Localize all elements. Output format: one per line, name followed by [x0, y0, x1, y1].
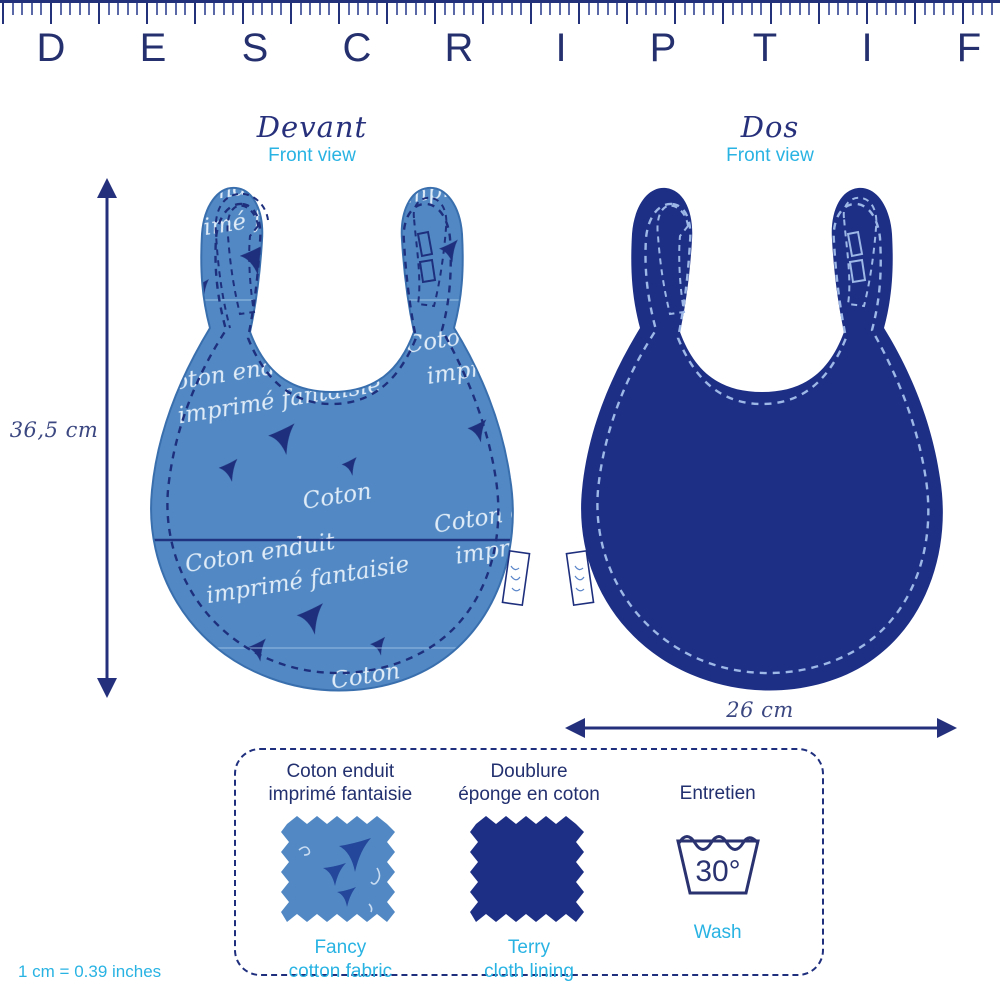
- ruler-tick: [828, 3, 830, 15]
- legend-fr-line2: imprimé fantaisie: [269, 783, 413, 806]
- unit-conversion-note: 1 cm = 0.39 inches: [18, 962, 161, 982]
- legend-item-terry-lining-title: Doublure éponge en coton: [458, 760, 600, 806]
- ruler-tick: [40, 3, 42, 15]
- ruler-tick: [981, 3, 983, 15]
- ruler-tick: [453, 3, 455, 15]
- ruler-tick: [712, 3, 714, 15]
- ruler-tick: [69, 3, 71, 15]
- title-letter-8: I: [816, 26, 918, 71]
- ruler-tick: [876, 3, 878, 15]
- legend-item-fancy-cotton: Coton enduit imprimé fantaisie Fancy cot…: [246, 756, 435, 970]
- ruler-tick: [808, 3, 810, 15]
- ruler-tick: [21, 3, 23, 15]
- ruler-tick: [146, 3, 148, 24]
- legend-fr-line2: éponge en coton: [458, 783, 600, 806]
- ruler-tick: [530, 3, 532, 24]
- title-letter-9: F: [918, 26, 1000, 71]
- ruler-tick: [338, 3, 340, 24]
- ruler-tick: [664, 3, 666, 15]
- fabric-swatch-icon: [281, 812, 399, 930]
- ruler-tick: [674, 3, 676, 24]
- title-letter-1: E: [102, 26, 204, 71]
- ruler-tick: [549, 3, 551, 15]
- ruler-tick: [60, 3, 62, 15]
- ruler-tick: [424, 3, 426, 15]
- ruler-tick: [741, 3, 743, 15]
- ruler-tick: [588, 3, 590, 15]
- ruler-tick: [444, 3, 446, 15]
- legend-item-fancy-cotton-sub: Fancy cotton fabric: [289, 936, 393, 982]
- bib-back-illustration: [548, 178, 978, 703]
- ruler-tick: [780, 3, 782, 15]
- title-letter-2: S: [204, 26, 306, 71]
- ruler-tick: [367, 3, 369, 15]
- ruler-tick: [722, 3, 724, 24]
- fabric-swatch-icon: [470, 812, 588, 930]
- ruler-baseline: [0, 0, 1000, 3]
- legend-item-terry-lining-sub: Terry cloth lining: [484, 936, 574, 982]
- legend-en-line2: cotton fabric: [289, 960, 393, 983]
- ruler-tick: [290, 3, 292, 24]
- arrowhead-right-icon: [937, 718, 957, 738]
- ruler-tick: [482, 3, 484, 24]
- ruler-tick: [223, 3, 225, 15]
- ruler-tick: [703, 3, 705, 15]
- ruler-tick: [175, 3, 177, 15]
- ruler-tick: [252, 3, 254, 15]
- legend-en-line1: Fancy: [289, 936, 393, 959]
- ruler-tick: [213, 3, 215, 15]
- ruler-tick: [271, 3, 273, 15]
- ruler-tick: [79, 3, 81, 15]
- wash-temperature-text: 30°: [695, 855, 740, 888]
- view-caption-front-en: Front view: [182, 142, 442, 171]
- title-letter-4: R: [408, 26, 510, 71]
- ruler-tick: [789, 3, 791, 15]
- ruler-tick: [328, 3, 330, 15]
- title-letter-3: C: [306, 26, 408, 71]
- ruler-tick: [396, 3, 398, 15]
- ruler-tick: [108, 3, 110, 15]
- ruler-tick: [156, 3, 158, 15]
- ruler-tick: [837, 3, 839, 15]
- ruler-tick: [98, 3, 100, 24]
- view-caption-back-fr: Dos: [640, 112, 900, 142]
- page-title: DESCRIPTIF: [0, 26, 1000, 71]
- bib-back-body: [581, 188, 943, 691]
- view-caption-back: Dos Front view: [640, 112, 900, 171]
- ruler-tick: [895, 3, 897, 15]
- arrowhead-left-icon: [565, 718, 585, 738]
- legend-fr-line1: Doublure: [458, 760, 600, 783]
- ruler-tick: [492, 3, 494, 15]
- ruler-tick: [242, 3, 244, 24]
- ruler-tick: [415, 3, 417, 15]
- view-caption-front-fr: Devant: [182, 112, 442, 142]
- wash-tub-30-icon: 30°: [666, 823, 770, 901]
- ruler-tick: [280, 3, 282, 15]
- ruler-tick: [962, 3, 964, 24]
- ruler-tick: [165, 3, 167, 15]
- title-letter-6: P: [612, 26, 714, 71]
- ruler-tick: [626, 3, 628, 24]
- ruler-tick: [348, 3, 350, 15]
- view-caption-front: Devant Front view: [182, 112, 442, 171]
- ruler-tick: [684, 3, 686, 15]
- bib-front-illustration: Coton enduit imprimé fantaisie Coton: [118, 178, 548, 703]
- ruler-tick: [501, 3, 503, 15]
- ruler-tick: [885, 3, 887, 15]
- ruler-tick: [405, 3, 407, 15]
- ruler-tick: [972, 3, 974, 15]
- ruler-tick: [386, 3, 388, 24]
- ruler-tick: [194, 3, 196, 24]
- legend-item-care-sub: Wash: [694, 921, 742, 944]
- ruler-tick: [559, 3, 561, 15]
- legend-en-line1: Terry: [484, 936, 574, 959]
- legend-item-care: Entretien 30° Wash: [623, 756, 812, 970]
- ruler-tick: [645, 3, 647, 15]
- ruler-tick: [760, 3, 762, 15]
- ruler-tick: [300, 3, 302, 15]
- ruler-tick: [655, 3, 657, 15]
- ruler-tick: [818, 3, 820, 24]
- ruler-tick: [88, 3, 90, 15]
- ruler-tick: [693, 3, 695, 15]
- dimension-height-label: 36,5 cm: [8, 418, 100, 442]
- legend-item-care-title: Entretien: [680, 782, 756, 805]
- dimension-width-label: 26 cm: [640, 698, 880, 722]
- title-letter-0: D: [0, 26, 102, 71]
- ruler-tick: [616, 3, 618, 15]
- ruler-tick: [261, 3, 263, 15]
- legend-item-terry-lining: Doublure éponge en coton Terry cloth lin…: [435, 756, 624, 970]
- ruler-tick: [309, 3, 311, 15]
- ruler-tick: [127, 3, 129, 15]
- ruler-tick: [376, 3, 378, 15]
- legend-item-fancy-cotton-title: Coton enduit imprimé fantaisie: [269, 760, 413, 806]
- ruler-tick: [933, 3, 935, 15]
- ruler-tick: [184, 3, 186, 15]
- legend-panel: Coton enduit imprimé fantaisie Fancy cot…: [234, 748, 824, 976]
- ruler-tick: [540, 3, 542, 15]
- ruler-tick: [943, 3, 945, 15]
- ruler-tick: [751, 3, 753, 15]
- arrowhead-up-icon: [97, 178, 117, 198]
- legend-fr-line1: Entretien: [680, 782, 756, 805]
- legend-fr-line1: Coton enduit: [269, 760, 413, 783]
- legend-en-line1: Wash: [694, 921, 742, 944]
- legend-en-line2: cloth lining: [484, 960, 574, 983]
- ruler-tick: [31, 3, 33, 15]
- title-letter-5: I: [510, 26, 612, 71]
- ruler-tick: [597, 3, 599, 15]
- ruler-tick: [799, 3, 801, 15]
- ruler-tick: [914, 3, 916, 24]
- ruler-tick: [607, 3, 609, 15]
- view-caption-back-en: Front view: [640, 142, 900, 171]
- ruler-tick: [434, 3, 436, 24]
- ruler-tick: [463, 3, 465, 15]
- ruler-tick: [117, 3, 119, 15]
- ruler-tick: [568, 3, 570, 15]
- ruler-tick: [472, 3, 474, 15]
- ruler-tick: [866, 3, 868, 24]
- ruler-tick: [50, 3, 52, 24]
- title-letter-7: T: [714, 26, 816, 71]
- ruler-tick: [232, 3, 234, 15]
- arrowhead-down-icon: [97, 678, 117, 698]
- ruler-tick: [578, 3, 580, 24]
- ruler-tick: [520, 3, 522, 15]
- ruler-tick: [991, 3, 993, 15]
- ruler-icon: [0, 0, 1000, 26]
- ruler-tick: [952, 3, 954, 15]
- ruler-tick: [856, 3, 858, 15]
- ruler-tick: [2, 3, 4, 24]
- bib-front-body: [118, 178, 548, 703]
- ruler-tick: [136, 3, 138, 15]
- ruler-tick: [636, 3, 638, 15]
- ruler-tick: [770, 3, 772, 24]
- ruler-tick: [904, 3, 906, 15]
- ruler-tick: [204, 3, 206, 15]
- ruler-tick: [924, 3, 926, 15]
- ruler-tick: [847, 3, 849, 15]
- ruler-tick: [732, 3, 734, 15]
- ruler-tick: [357, 3, 359, 15]
- ruler-tick: [319, 3, 321, 15]
- ruler-tick: [511, 3, 513, 15]
- ruler-tick: [12, 3, 14, 15]
